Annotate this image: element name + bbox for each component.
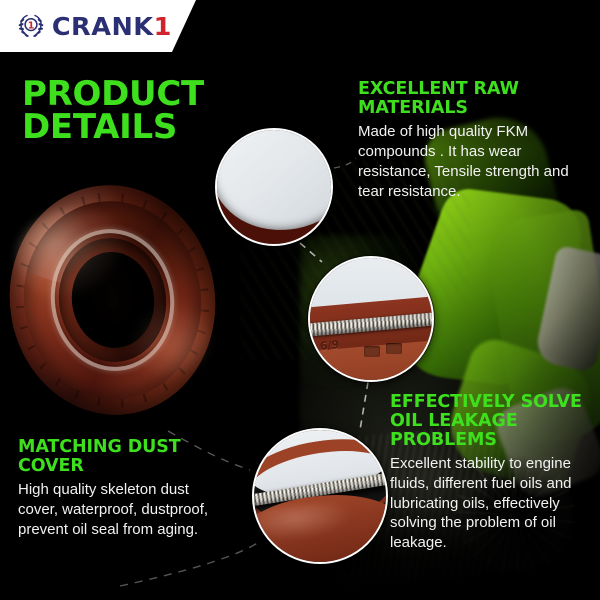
brand-name-accent: 1 (154, 12, 172, 41)
feature-raw-materials-title: EXCELLENT RAW MATERIALS (358, 80, 584, 118)
brand-wordmark: CRANK1 (52, 14, 172, 39)
feature-raw-materials: EXCELLENT RAW MATERIALS Made of high qua… (358, 80, 584, 202)
brand-name-main: CRANK (52, 12, 154, 41)
header-banner: 1 CRANK1 (0, 0, 196, 52)
oil-seal-hero-image (0, 172, 230, 428)
feature-oil-leakage-body: Excellent stability to engine fluids, di… (390, 454, 590, 554)
svg-text:1: 1 (28, 20, 35, 31)
laurel-wreath-number-one-icon: 1 (16, 11, 46, 41)
feature-dust-cover-title: MATCHING DUST COVER (18, 438, 230, 476)
feature-raw-materials-body: Made of high quality FKM compounds . It … (358, 122, 584, 202)
callout-spring[interactable]: 6/9 (308, 256, 434, 382)
callout-dust-cover[interactable] (252, 428, 388, 564)
callout-1-seal-lip-line (215, 128, 333, 246)
feature-oil-leakage-title: EFFECTIVELY SOLVE OIL LEAKAGE PROBLEMS (390, 393, 590, 450)
callout-2-notch-b (386, 343, 402, 354)
feature-dust-cover-body: High quality skeleton dust cover, waterp… (18, 480, 230, 540)
feature-oil-leakage: EFFECTIVELY SOLVE OIL LEAKAGE PROBLEMS E… (390, 393, 590, 553)
callout-raw-materials[interactable] (215, 128, 333, 246)
callout-2-notch-a (364, 346, 380, 357)
callout-2-embossed-code: 6/9 (319, 338, 340, 353)
feature-dust-cover: MATCHING DUST COVER High quality skeleto… (18, 438, 230, 540)
